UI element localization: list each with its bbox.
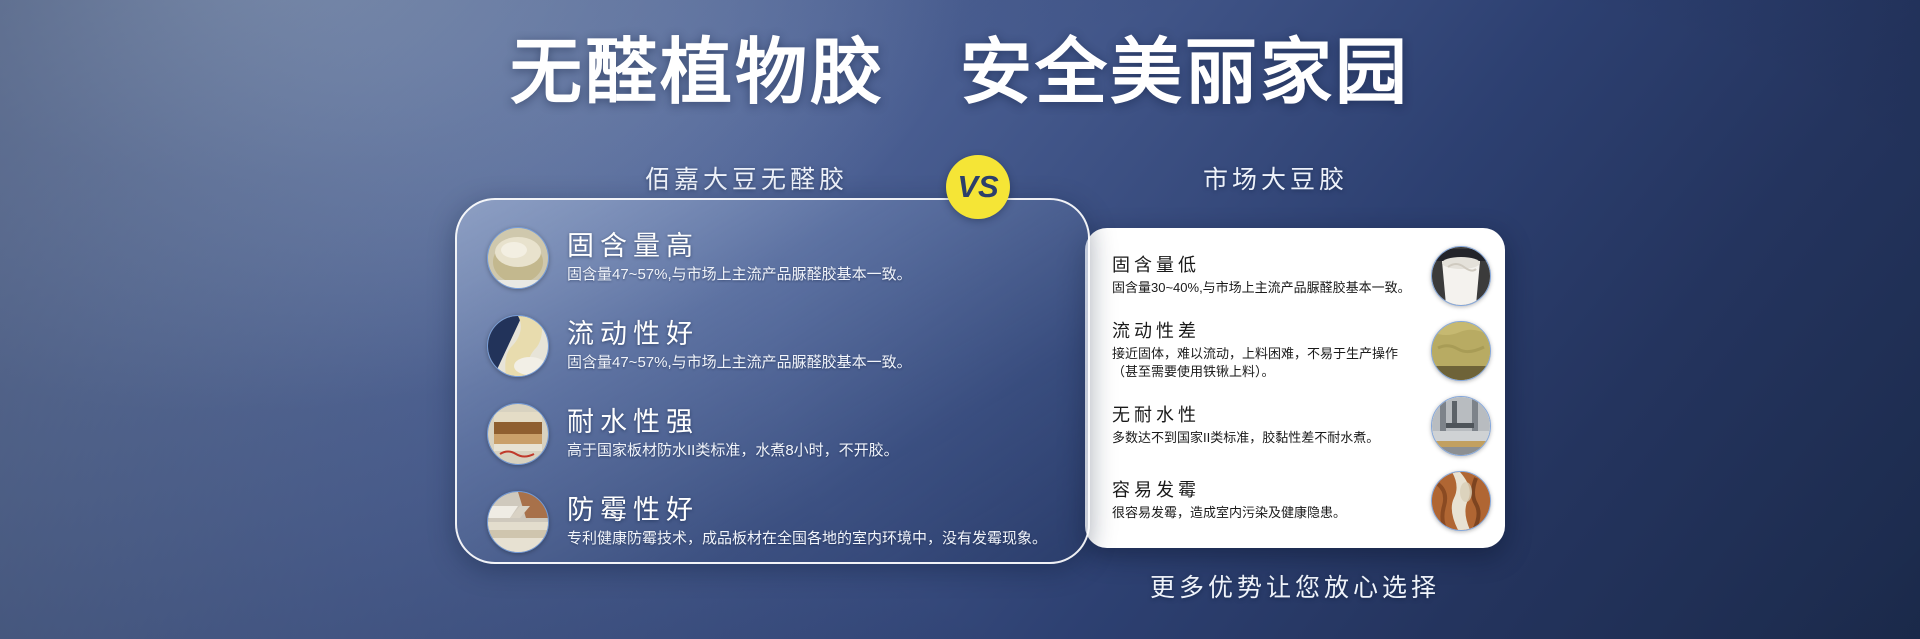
item-description: 高于国家板材防水II类标准，水煮8小时，不开胶。 [567, 441, 899, 461]
glue-pouring-photo [487, 315, 549, 377]
item-description: 多数达不到国家II类标准，胶黏性差不耐水煮。 [1112, 429, 1379, 447]
item-heading: 固含量高 [567, 231, 912, 263]
list-item: 流动性好 固含量47~57%,与市场上主流产品脲醛胶基本一致。 [457, 302, 1088, 390]
list-item: 防霉性好 专利健康防霉技术，成品板材在全国各地的室内环境中，没有发霉现象。 [457, 478, 1088, 566]
dry-glue-lump-photo [1431, 321, 1491, 381]
bottom-note: 更多优势让您放心选择 [1085, 568, 1505, 604]
item-heading: 固含量低 [1112, 254, 1411, 277]
item-heading: 无耐水性 [1112, 404, 1379, 427]
item-description: 固含量47~57%,与市场上主流产品脲醛胶基本一致。 [567, 265, 912, 285]
vs-badge: VS [946, 155, 1010, 219]
left-column-label: 佰嘉大豆无醛胶 [645, 160, 848, 196]
item-heading: 流动性差 [1112, 320, 1398, 343]
item-description: 很容易发霉，造成室内污染及健康隐患。 [1112, 504, 1346, 522]
item-heading: 防霉性好 [567, 495, 1047, 527]
item-description: 专利健康防霉技术，成品板材在全国各地的室内环境中，没有发霉现象。 [567, 529, 1047, 549]
list-item: 无耐水性 多数达不到国家II类标准，胶黏性差不耐水煮。 [1085, 388, 1505, 463]
boiled-board-photo [487, 403, 549, 465]
item-heading: 流动性好 [567, 319, 912, 351]
plywood-stack-photo [487, 491, 549, 553]
item-description: 固含量30~40%,与市场上主流产品脲醛胶基本一致。 [1112, 279, 1411, 297]
list-item: 流动性差 接近固体，难以流动，上料困难，不易于生产操作 （甚至需要使用铁锹上料）… [1085, 313, 1505, 388]
left-comparison-card: 固含量高 固含量47~57%,与市场上主流产品脲醛胶基本一致。 流动性好 固含量… [455, 198, 1090, 564]
page-title: 无醛植物胶 安全美丽家园 [0, 33, 1920, 114]
list-item: 容易发霉 很容易发霉，造成室内污染及健康隐患。 [1085, 463, 1505, 538]
item-heading: 耐水性强 [567, 407, 899, 439]
soy-glue-paste-photo [487, 227, 549, 289]
list-item: 固含量高 固含量47~57%,与市场上主流产品脲醛胶基本一致。 [457, 214, 1088, 302]
promo-banner: 无醛植物胶 安全美丽家园 佰嘉大豆无醛胶 市场大豆胶 VS 固含量高 固含量47… [0, 0, 1920, 639]
list-item: 耐水性强 高于国家板材防水II类标准，水煮8小时，不开胶。 [457, 390, 1088, 478]
right-comparison-card: 固含量低 固含量30~40%,与市场上主流产品脲醛胶基本一致。 流动性差 接近固… [1085, 228, 1505, 548]
white-glue-bucket-photo [1431, 246, 1491, 306]
testing-machine-photo [1431, 396, 1491, 456]
item-description: 固含量47~57%,与市场上主流产品脲醛胶基本一致。 [567, 353, 912, 373]
item-description: 接近固体，难以流动，上料困难，不易于生产操作 （甚至需要使用铁锹上料）。 [1112, 345, 1398, 381]
right-column-label: 市场大豆胶 [1203, 160, 1348, 196]
list-item: 固含量低 固含量30~40%,与市场上主流产品脲醛胶基本一致。 [1085, 238, 1505, 313]
moldy-board-photo [1431, 471, 1491, 531]
item-heading: 容易发霉 [1112, 479, 1346, 502]
